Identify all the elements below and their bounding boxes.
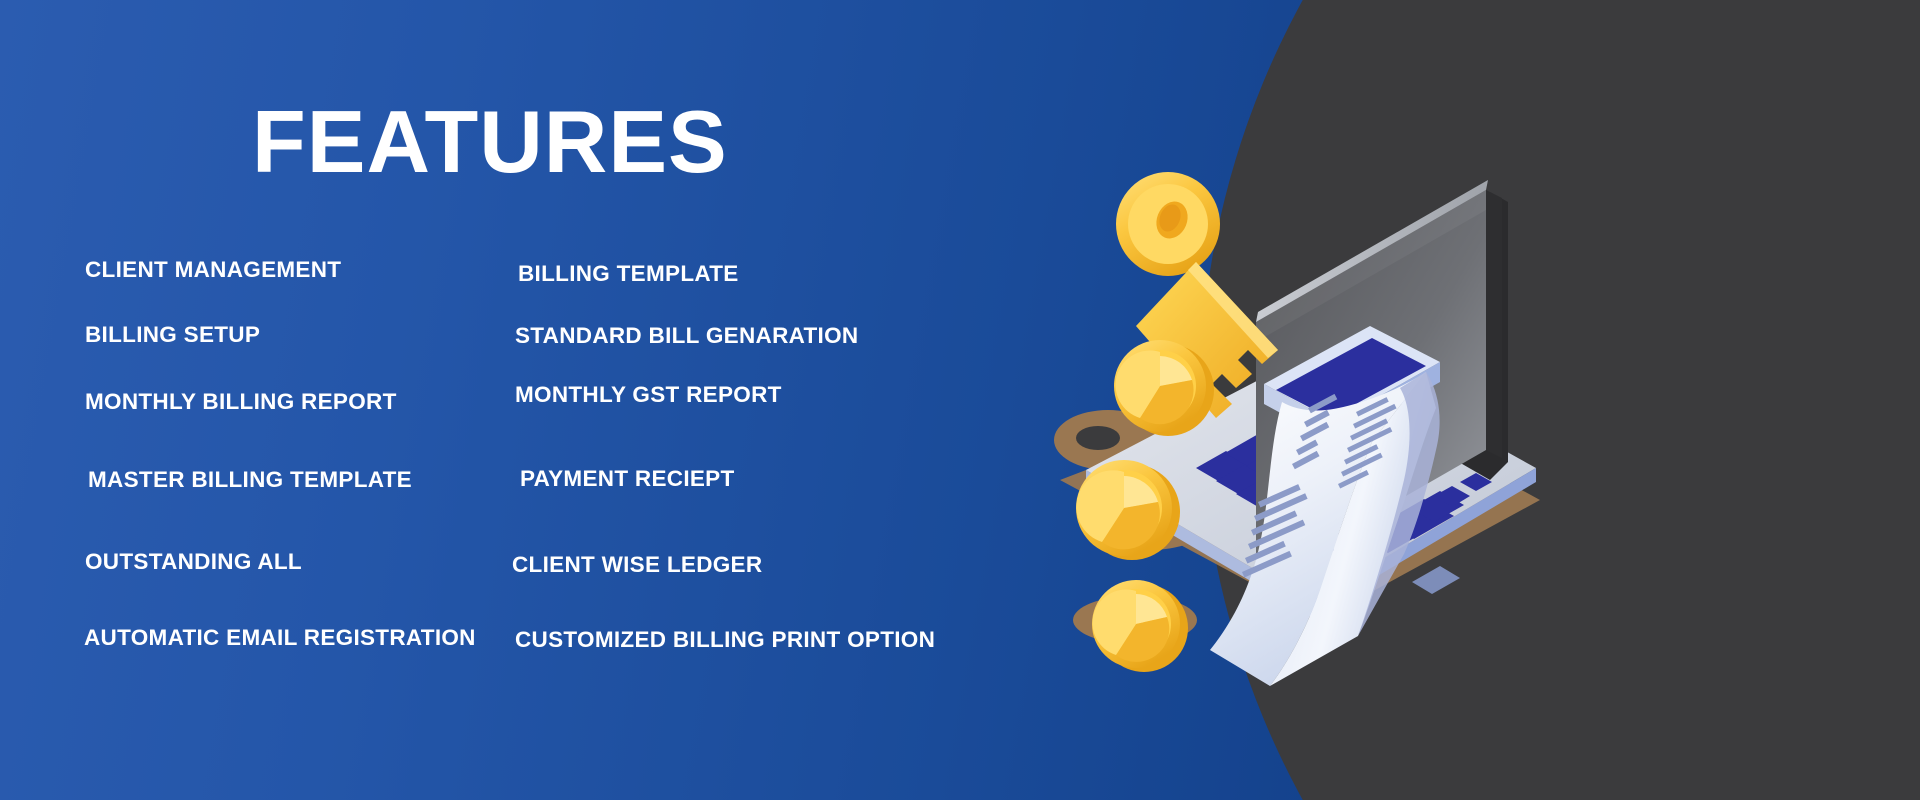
page-title: FEATURES (252, 98, 728, 186)
feature-item-client-management: CLIENT MANAGEMENT (85, 258, 341, 283)
feature-item-standard-bill-genaration: STANDARD BILL GENARATION (515, 324, 858, 349)
feature-item-monthly-gst-report: MONTHLY GST REPORT (515, 383, 782, 408)
slide-canvas: FEATURES CLIENT MANAGEMENT BILLING SETUP… (0, 0, 1920, 800)
feature-item-billing-template: BILLING TEMPLATE (518, 262, 739, 287)
feature-item-monthly-billing-report: MONTHLY BILLING REPORT (85, 390, 397, 415)
feature-item-customized-billing-print-option: CUSTOMIZED BILLING PRINT OPTION (515, 628, 935, 653)
feature-item-billing-setup: BILLING SETUP (85, 323, 260, 348)
illustration-laptop-invoice (1020, 150, 1580, 690)
feature-item-automatic-email-registration: AUTOMATIC EMAIL REGISTRATION (84, 626, 476, 651)
gold-coin (1092, 580, 1188, 672)
feature-item-master-billing-template: MASTER BILLING TEMPLATE (88, 468, 412, 493)
feature-item-payment-reciept: PAYMENT RECIEPT (520, 467, 735, 492)
feature-item-outstanding-all: OUTSTANDING ALL (85, 550, 302, 575)
content-layer: FEATURES CLIENT MANAGEMENT BILLING SETUP… (0, 0, 1920, 800)
feature-item-client-wise-ledger: CLIENT WISE LEDGER (512, 553, 762, 578)
